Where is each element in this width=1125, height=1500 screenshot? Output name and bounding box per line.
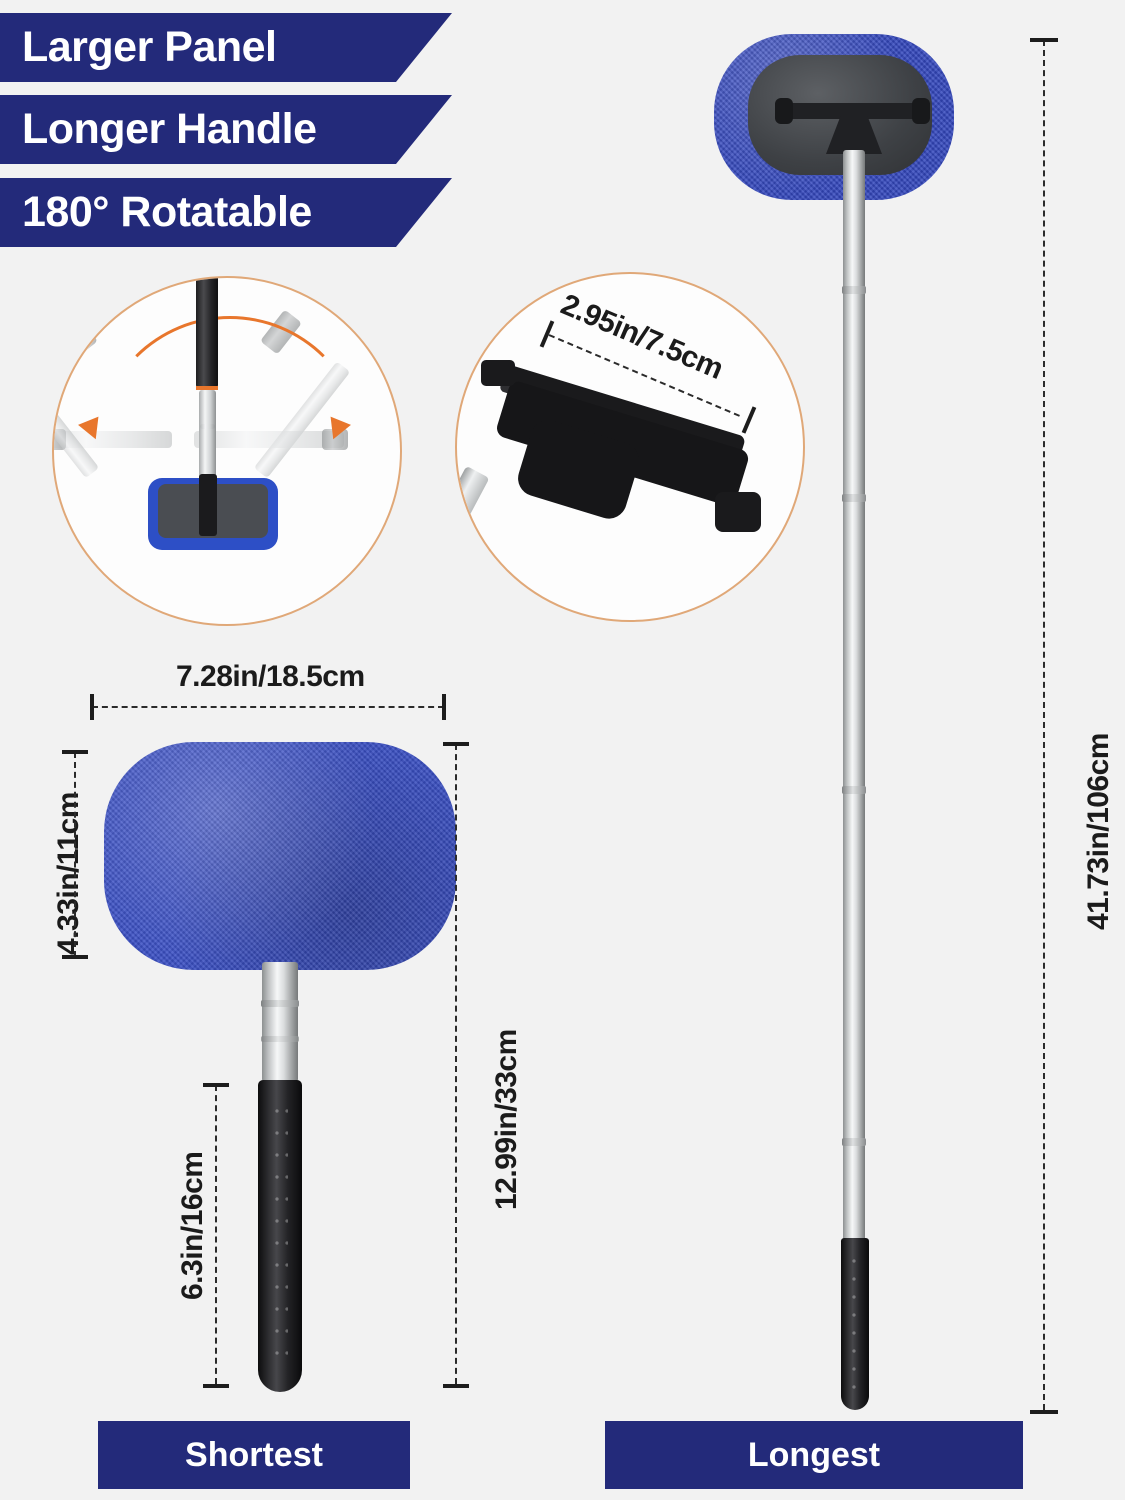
longest-total-tick-bottom — [1030, 1410, 1058, 1414]
shortest-total-label: 12.99in/33cm — [490, 1029, 524, 1210]
longest-total-dimension-line — [1043, 40, 1045, 1410]
pad-height-tick-bottom — [62, 955, 88, 959]
feature-banner-longer-handle: Longer Handle — [0, 95, 452, 164]
pole-joint-3 — [842, 786, 866, 794]
pad-height-tick-top — [62, 750, 88, 754]
squeegee-pivot-knob — [715, 492, 761, 532]
pole-joint-1 — [842, 286, 866, 294]
longest-total-tick-top — [1030, 38, 1058, 42]
infographic-stage: Larger Panel Longer Handle 180° Rotatabl… — [0, 0, 1125, 1500]
footer-label-text: Shortest — [185, 1438, 323, 1472]
shortest-total-dimension-line — [455, 744, 457, 1384]
pad-mini-stem — [199, 474, 217, 536]
squeegee-dimension-tick-start — [540, 320, 555, 347]
shortest-total-tick-bottom — [443, 1384, 469, 1388]
grip-length-tick-top — [203, 1083, 229, 1087]
squeegee-dimension-tick-end — [742, 406, 757, 433]
footer-label-text: Longest — [748, 1438, 880, 1472]
pole-joint-4 — [842, 1138, 866, 1146]
grip-length-label: 6.3in/16cm — [176, 1152, 210, 1300]
telescoping-pole-longest — [843, 150, 865, 1255]
longest-total-label: 41.73in/106cm — [1082, 733, 1116, 930]
feature-banner-label: Longer Handle — [0, 108, 317, 151]
shaft-joint — [200, 424, 215, 429]
ghost-pole-left-diagonal-grip — [56, 309, 98, 354]
squeegee-closeup-circle: 2.95in/7.5cm — [455, 272, 805, 622]
squeegee-handle-shaft — [455, 466, 489, 567]
head-bracket-end-left — [775, 98, 793, 124]
shaft-joint-ring-2 — [261, 1036, 299, 1042]
telescoping-shaft-shortest — [262, 962, 298, 1082]
grip-texture — [272, 1100, 288, 1370]
pad-height-label: 4.33in/11cm — [52, 792, 86, 955]
grip-length-tick-bottom — [203, 1384, 229, 1388]
feature-banner-label: Larger Panel — [0, 26, 277, 69]
pad-width-tick-left — [90, 694, 94, 720]
shaft-joint-ring — [261, 1000, 299, 1007]
pole-joint-2 — [842, 494, 866, 502]
squeegee-end-cap — [481, 360, 515, 386]
pad-width-dimension-line — [92, 706, 444, 708]
rotation-demo-circle — [52, 276, 402, 626]
feature-banner-label: 180° Rotatable — [0, 191, 312, 234]
grip-texture-longest — [850, 1252, 860, 1398]
pad-width-tick-right — [442, 694, 446, 720]
pad-width-label: 7.28in/18.5cm — [176, 660, 365, 694]
feature-banner-180-rotatable: 180° Rotatable — [0, 178, 452, 247]
handle-grip-upright — [196, 276, 218, 388]
microfiber-pad-shortest — [104, 742, 456, 970]
squeegee-dimension-label: 2.95in/7.5cm — [556, 288, 728, 387]
footer-label-longest: Longest — [605, 1421, 1023, 1489]
feature-banner-larger-panel: Larger Panel — [0, 13, 452, 82]
grip-length-dimension-line — [215, 1085, 217, 1384]
pad-height-dimension-line — [74, 752, 76, 957]
footer-label-shortest: Shortest — [98, 1421, 410, 1489]
shortest-total-tick-top — [443, 742, 469, 746]
head-bracket-end-right — [912, 98, 930, 124]
